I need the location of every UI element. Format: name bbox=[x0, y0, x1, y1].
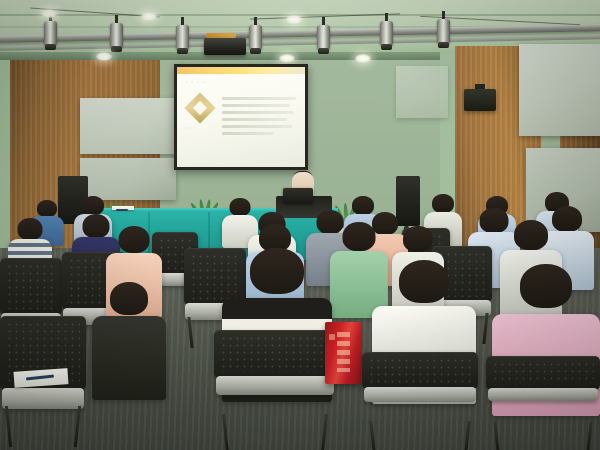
acoustic-panel-left-lower bbox=[80, 158, 176, 200]
stage-spotlight-4 bbox=[249, 22, 262, 56]
wall-speaker-icon bbox=[464, 89, 496, 111]
downlight-5 bbox=[279, 54, 295, 63]
acoustic-panel-right-upper bbox=[519, 44, 600, 136]
slide-title: ▫ ▫ ▫ ▫ bbox=[186, 80, 206, 86]
downlight-3 bbox=[286, 15, 302, 24]
downlight-2 bbox=[141, 12, 157, 21]
table-pen-icon bbox=[116, 209, 128, 211]
slide-subtitle: ▫ ▫ ▫ bbox=[185, 125, 196, 130]
chair-front-far-right bbox=[486, 356, 600, 450]
stage-spotlight-6 bbox=[380, 18, 393, 52]
stage-spotlight-3 bbox=[176, 22, 189, 56]
slide-header-bar bbox=[177, 67, 305, 74]
acoustic-panel-center bbox=[396, 66, 448, 118]
seminar-room-photo: ▫ ▫ ▫ ▫ ▫ ▫ ▫ bbox=[0, 0, 600, 450]
chair-front-right bbox=[362, 352, 478, 450]
downlight-4 bbox=[96, 52, 112, 61]
stage-spotlight-7 bbox=[437, 16, 450, 50]
downlight-6 bbox=[355, 54, 371, 63]
acoustic-panel-left-upper bbox=[80, 98, 176, 154]
stage-spotlight-2 bbox=[110, 20, 123, 54]
gift-bag-seal bbox=[329, 334, 335, 340]
stage-spotlight-1 bbox=[44, 18, 57, 52]
stage-spotlight-5 bbox=[317, 22, 330, 56]
slide-logo-icon bbox=[184, 92, 215, 123]
projection-screen: ▫ ▫ ▫ ▫ ▫ ▫ ▫ bbox=[174, 64, 308, 170]
gift-bag bbox=[325, 322, 361, 384]
chair-front-center bbox=[214, 330, 336, 450]
slide-body-text bbox=[222, 97, 296, 139]
attendee-front-left-dark bbox=[92, 282, 166, 400]
laptop-icon bbox=[283, 188, 313, 204]
downlight-1 bbox=[41, 9, 57, 18]
gift-bag-text bbox=[337, 332, 350, 372]
ceiling-projector-icon bbox=[204, 38, 246, 55]
